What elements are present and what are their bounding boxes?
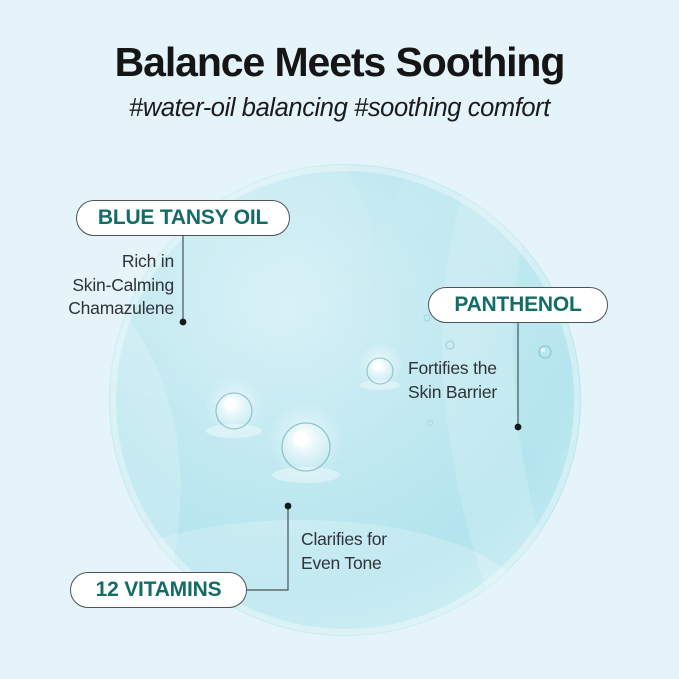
callout-description-panthenol: Fortifies the Skin Barrier [408, 357, 528, 404]
callout-label-12-vitamins: 12 VITAMINS [96, 578, 222, 602]
connector-dot-panthenol [515, 424, 522, 431]
connector-12-vitamins [247, 503, 291, 590]
callout-label-panthenol: PANTHENOL [454, 293, 581, 317]
product-infographic: Balance Meets Soothing #water-oil balanc… [0, 0, 679, 679]
connector-dot-blue-tansy-oil [180, 319, 187, 326]
callout-pill-12-vitamins[interactable]: 12 VITAMINS [70, 572, 247, 608]
connector-blue-tansy-oil [180, 236, 187, 325]
connector-dot-12-vitamins [285, 503, 292, 510]
callout-pill-blue-tansy-oil[interactable]: BLUE TANSY OIL [76, 200, 290, 236]
callout-pill-panthenol[interactable]: PANTHENOL [428, 287, 608, 323]
callout-description-12-vitamins: Clarifies for Even Tone [301, 528, 461, 575]
callout-description-blue-tansy-oil: Rich in Skin-Calming Chamazulene [14, 250, 174, 321]
callout-label-blue-tansy-oil: BLUE TANSY OIL [98, 206, 268, 230]
